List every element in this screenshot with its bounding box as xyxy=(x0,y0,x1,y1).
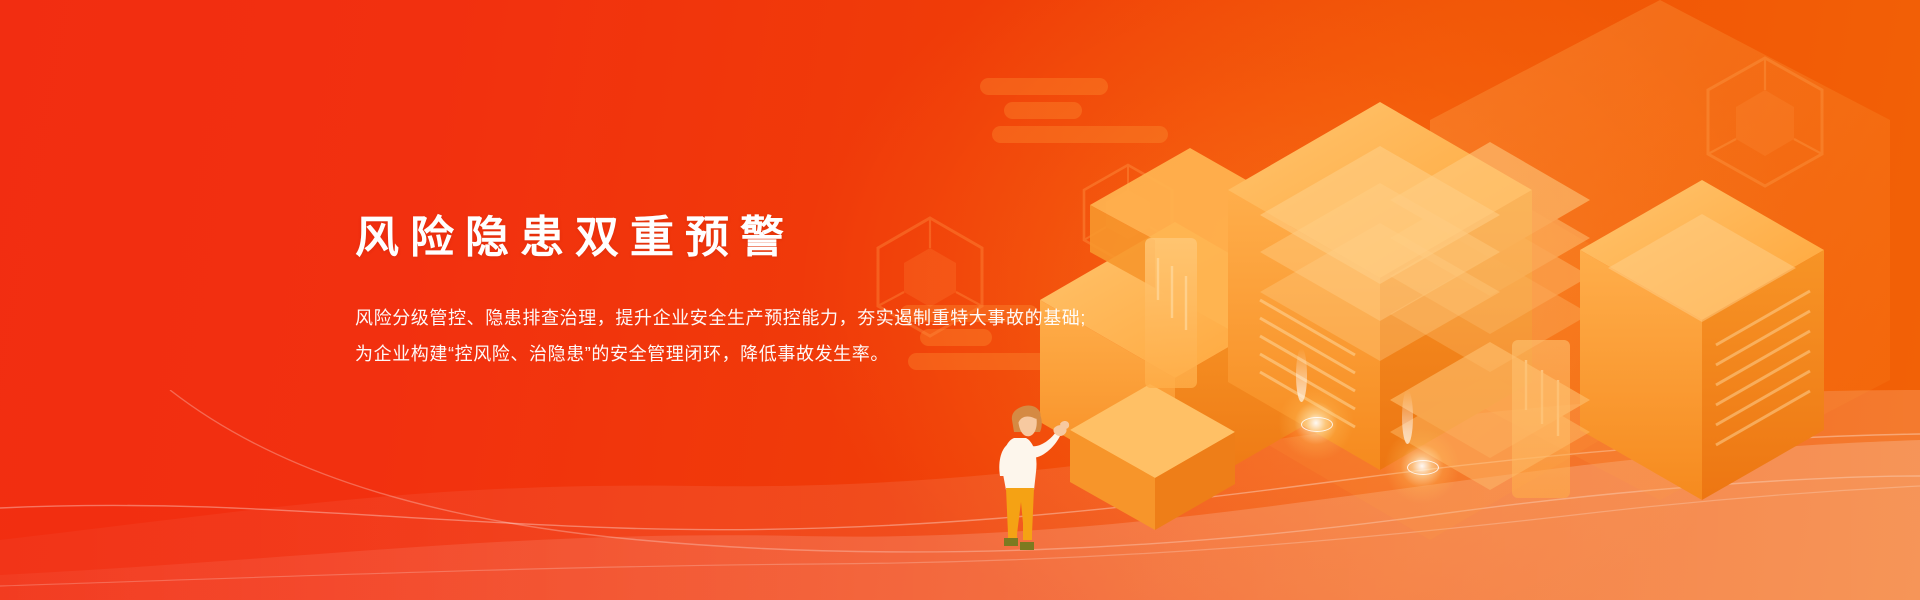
description-line-2: 为企业构建“控风险、治隐患”的安全管理闭环，降低事故发生率。 xyxy=(355,336,1195,373)
hero-content: 风险隐患双重预警 风险分级管控、隐患排查治理，提升企业安全生产预控能力，夯实遏制… xyxy=(355,214,1195,373)
banner-root: 等轴测服务器机柜与人物插画 风险隐患双重预警 风险分级管控、隐患排查治理，提升企… xyxy=(0,0,1920,600)
description-line-1: 风险分级管控、隐患排查治理，提升企业安全生产预控能力，夯实遏制重特大事故的基础; xyxy=(355,300,1195,337)
hero-description: 风险分级管控、隐患排查治理，提升企业安全生产预控能力，夯实遏制重特大事故的基础;… xyxy=(355,300,1195,374)
page-title: 风险隐患双重预警 xyxy=(355,214,1195,262)
person-pointing xyxy=(990,398,1082,558)
